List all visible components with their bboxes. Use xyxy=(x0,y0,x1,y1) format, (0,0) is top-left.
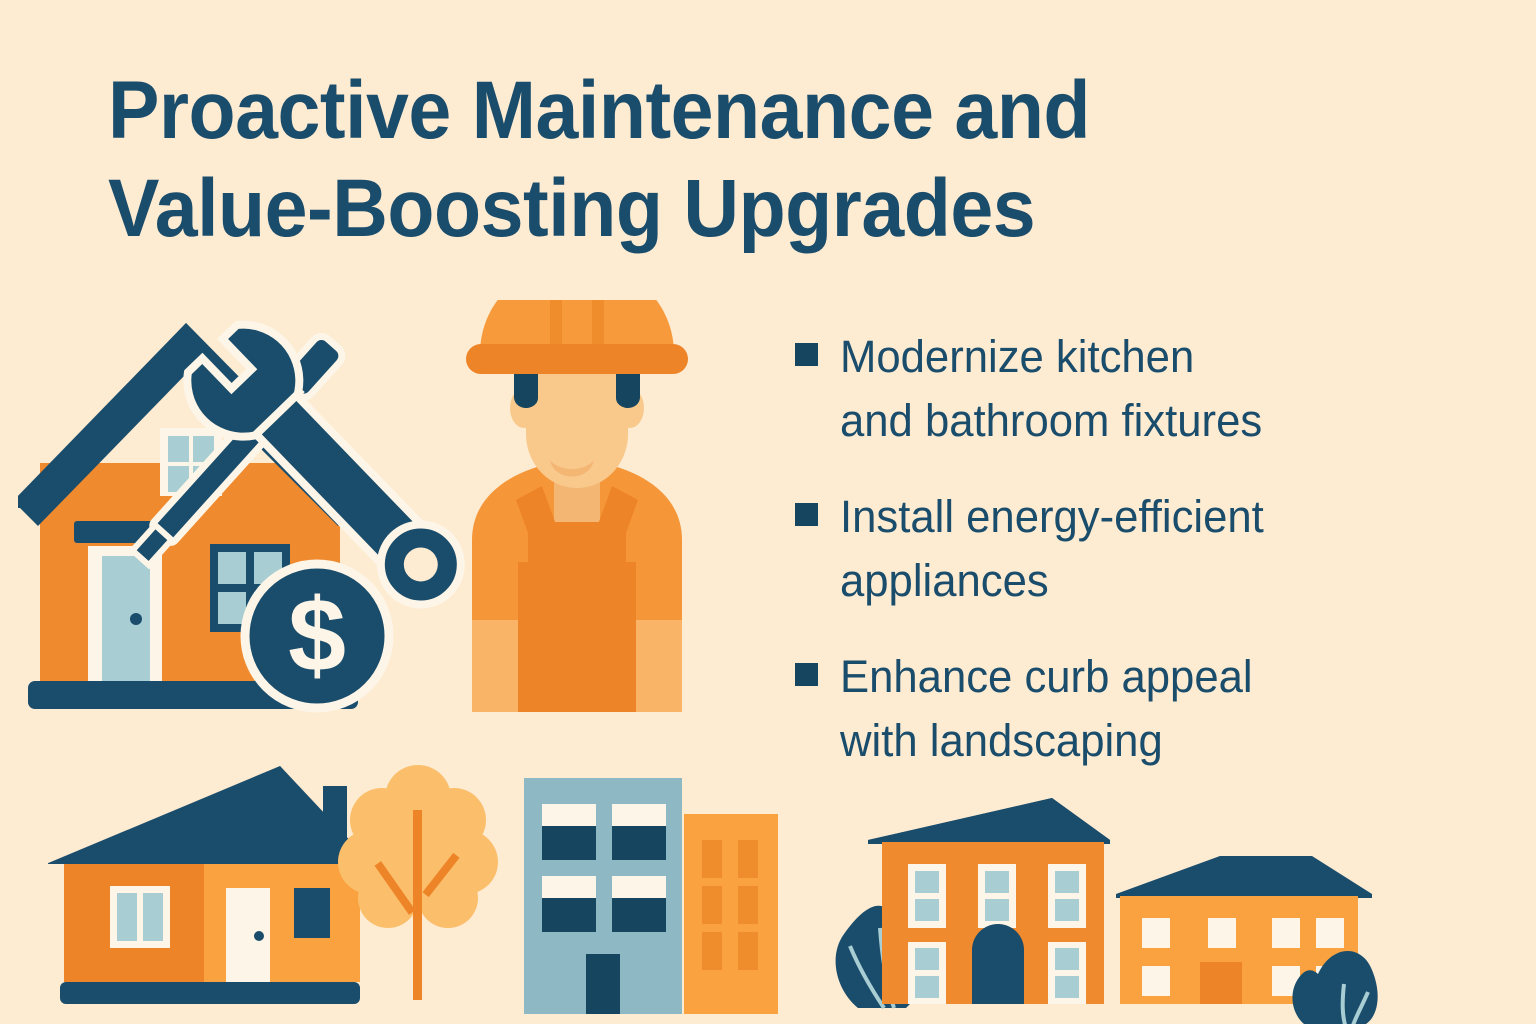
page-title: Proactive Maintenance and Value-Boosting… xyxy=(108,62,1408,258)
house-with-tools-illustration: $ xyxy=(18,288,478,720)
hard-hat-icon xyxy=(466,300,688,374)
bullet-text: Modernize kitchen and bathroom fixtures xyxy=(840,325,1262,453)
bullet-square-icon xyxy=(795,503,818,526)
list-item: Install energy-efficient appliances xyxy=(795,485,1455,613)
townhouse-row-illustration xyxy=(820,778,1382,1024)
tree-icon xyxy=(338,765,498,1000)
bullet-text: Install energy-efficient appliances xyxy=(840,485,1264,613)
bullet-line-2: and bathroom fixtures xyxy=(840,395,1262,446)
bullet-square-icon xyxy=(795,343,818,366)
title-line-1: Proactive Maintenance and xyxy=(108,62,1330,160)
svg-text:$: $ xyxy=(288,578,346,694)
bullet-line-1: Modernize kitchen xyxy=(840,331,1194,382)
infographic-canvas: Proactive Maintenance and Value-Boosting… xyxy=(0,0,1536,1024)
bullet-line-2: with landscaping xyxy=(840,715,1163,766)
suburban-house-with-tree-illustration xyxy=(48,758,504,1024)
bullet-square-icon xyxy=(795,663,818,686)
title-line-2: Value-Boosting Upgrades xyxy=(108,160,1330,258)
list-item: Modernize kitchen and bathroom fixtures xyxy=(795,325,1455,453)
bullet-line-1: Enhance curb appeal xyxy=(840,651,1253,702)
bullet-text: Enhance curb appeal with landscaping xyxy=(840,645,1253,773)
construction-worker-illustration xyxy=(432,300,762,712)
bullet-line-2: appliances xyxy=(840,555,1049,606)
bullet-list: Modernize kitchen and bathroom fixtures … xyxy=(795,325,1455,805)
list-item: Enhance curb appeal with landscaping xyxy=(795,645,1455,773)
dollar-coin-icon: $ xyxy=(245,564,389,708)
apartment-buildings-illustration xyxy=(506,770,796,1024)
bullet-line-1: Install energy-efficient xyxy=(840,491,1264,542)
